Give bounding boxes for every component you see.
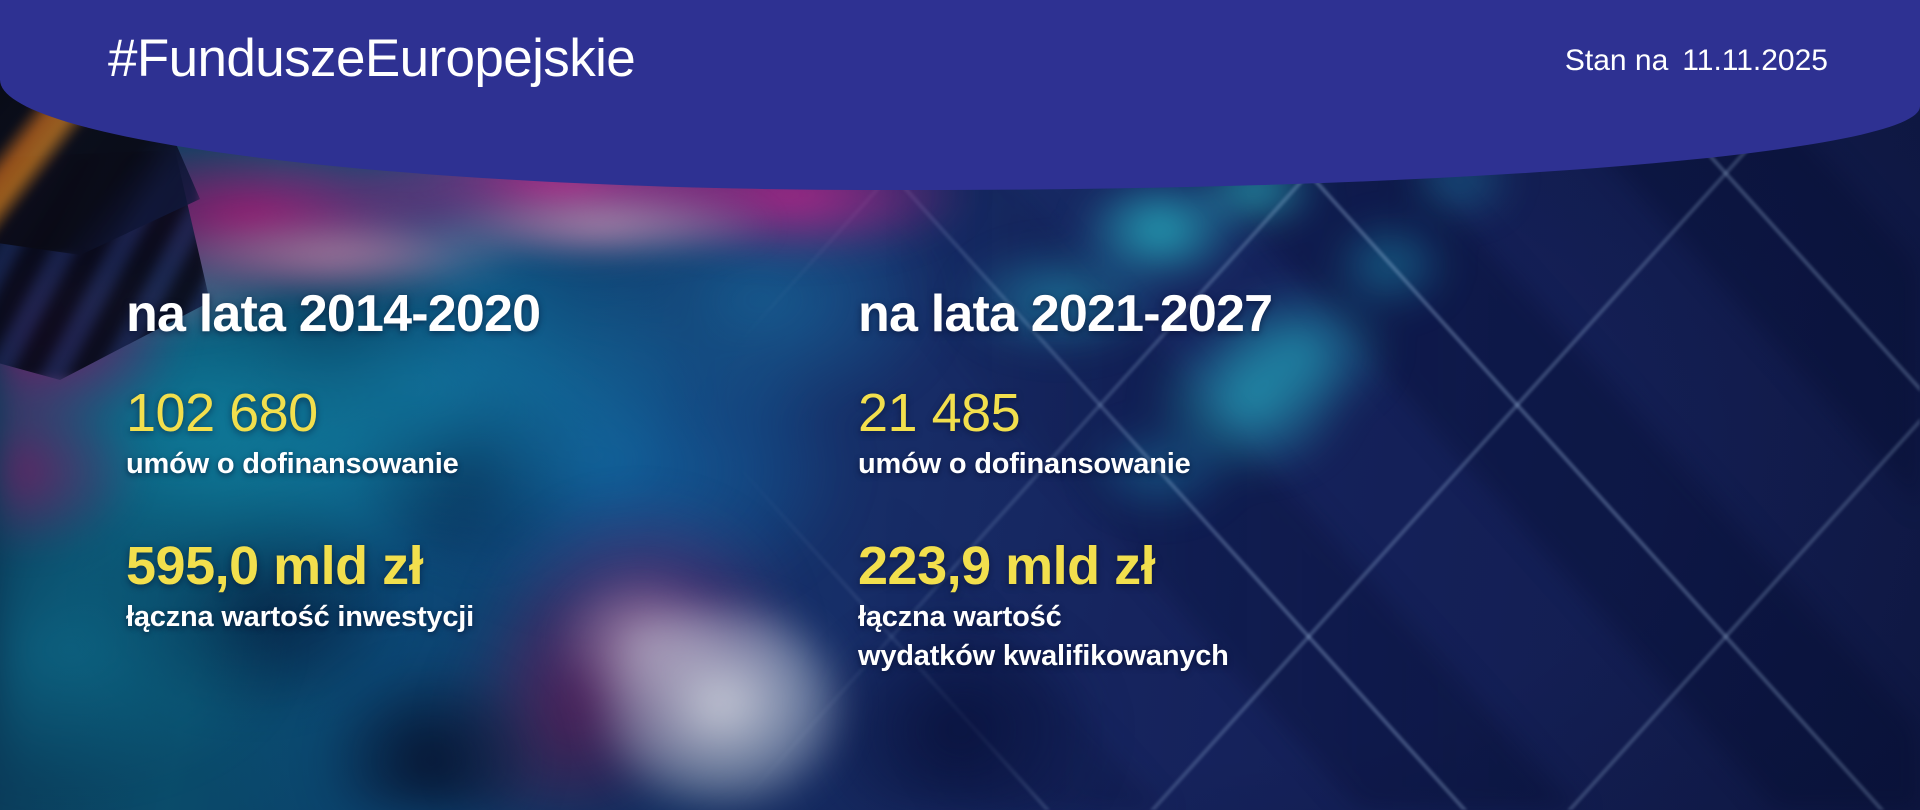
period-title: na lata 2014-2020 [126, 288, 540, 340]
stat-label: łączna wartość inwestycji [126, 598, 540, 636]
stat-block-contracts: 21 485 umów o dofinansowanie [858, 386, 1272, 483]
status-date-group: Stan na11.11.2025 [1565, 44, 1828, 78]
stat-value: 223,9 mld zł [858, 539, 1272, 594]
stat-value: 595,0 mld zł [126, 539, 540, 594]
period-title: na lata 2021-2027 [858, 288, 1272, 340]
stat-column-2014-2020: na lata 2014-2020 102 680 umów o dofinan… [126, 288, 540, 637]
status-label: Stan na [1565, 44, 1668, 77]
stat-value: 21 485 [858, 386, 1272, 441]
stat-label: umów o dofinansowanie [126, 445, 540, 483]
stat-label: umów o dofinansowanie [858, 445, 1272, 483]
stat-block-contracts: 102 680 umów o dofinansowanie [126, 386, 540, 483]
hashtag-title: #FunduszeEuropejskie [108, 28, 635, 89]
stat-label: łączna wartość wydatków kwalifikowanych [858, 598, 1272, 675]
stat-column-2021-2027: na lata 2021-2027 21 485 umów o dofinans… [858, 288, 1272, 675]
header-content: #FunduszeEuropejskie Stan na11.11.2025 [0, 0, 1920, 135]
stat-block-investment-value: 595,0 mld zł łączna wartość inwestycji [126, 539, 540, 636]
infographic-banner: #FunduszeEuropejskie Stan na11.11.2025 n… [0, 0, 1920, 810]
stat-value: 102 680 [126, 386, 540, 441]
stat-block-eligible-expenditure: 223,9 mld zł łączna wartość wydatków kwa… [858, 539, 1272, 675]
status-date: 11.11.2025 [1682, 44, 1828, 77]
